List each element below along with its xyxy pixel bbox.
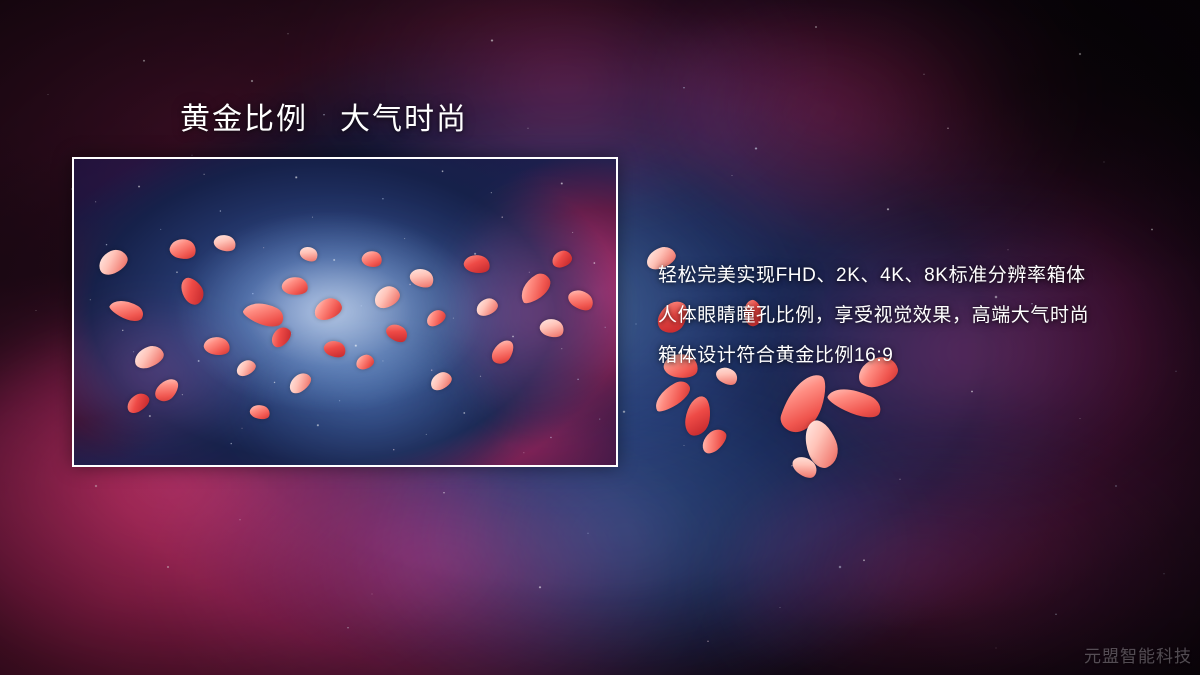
body-copy: 轻松完美实现FHD、2K、4K、8K标准分辨率箱体 人体眼睛瞳孔比例，享受视觉效…	[658, 256, 1178, 376]
body-line-2: 人体眼睛瞳孔比例，享受视觉效果，高端大气时尚	[658, 296, 1178, 336]
body-line-1: 轻松完美实现FHD、2K、4K、8K标准分辨率箱体	[658, 256, 1178, 296]
page-title: 黄金比例 大气时尚	[180, 103, 468, 137]
photo-content	[74, 159, 616, 465]
body-line-3: 箱体设计符合黄金比例16:9	[658, 336, 1178, 376]
watermark: 元盟智能科技	[1084, 642, 1192, 667]
photo-frame[interactable]	[72, 157, 618, 467]
presentation-slide: 黄金比例 大气时尚 轻松完美实现FHD、2K、4K、8K标准分辨率箱体 人体眼睛…	[0, 0, 1200, 675]
